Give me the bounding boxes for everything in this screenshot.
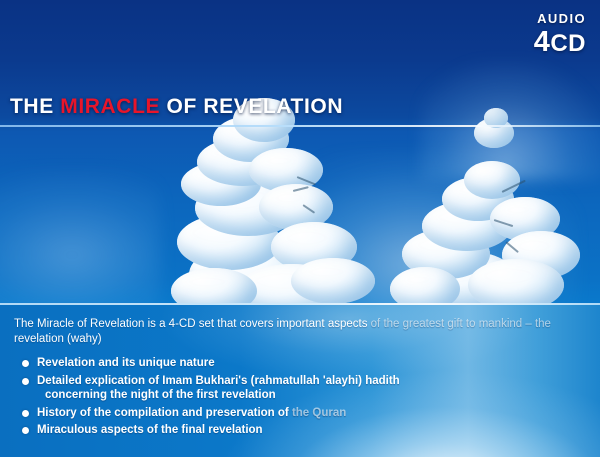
- title-highlight: MIRACLE: [60, 95, 160, 118]
- snow-lobe: [291, 258, 375, 304]
- bullet-icon: [22, 410, 29, 417]
- snow-tree-right: [398, 175, 588, 315]
- bullet-icon: [22, 360, 29, 367]
- title-area: THE MIRACLE OF REVELATION: [0, 95, 600, 127]
- title-divider: [0, 125, 600, 127]
- list-item: Revelation and its unique nature: [14, 356, 586, 371]
- description-line2: revelation (wahy): [14, 333, 102, 345]
- audio-format-badge: AUDIO 4CD: [534, 12, 586, 57]
- description-panel: The Miracle of Revelation is a 4-CD set …: [0, 303, 600, 457]
- list-item-text-faded: the Quran: [292, 407, 346, 419]
- list-item-text: History of the compilation and preservat…: [37, 407, 292, 419]
- page-title: THE MIRACLE OF REVELATION: [10, 95, 343, 119]
- description-line1-faded: of the greatest gift to mankind – the: [371, 318, 551, 330]
- list-item-text: Miraculous aspects of the final revelati…: [37, 424, 263, 436]
- list-item: Detailed explication of Imam Bukhari's (…: [14, 374, 586, 403]
- feature-list: Revelation and its unique nature Detaile…: [14, 356, 586, 438]
- badge-disc-number: 4: [534, 26, 551, 58]
- title-prefix: THE: [10, 95, 60, 118]
- list-item-text: Detailed explication of Imam Bukhari's (…: [37, 375, 400, 387]
- list-item-text: Revelation and its unique nature: [37, 357, 215, 369]
- list-item: Miraculous aspects of the final revelati…: [14, 423, 586, 438]
- description-line1: The Miracle of Revelation is a 4-CD set …: [14, 318, 371, 330]
- bullet-icon: [22, 427, 29, 434]
- badge-disc-count: 4CD: [534, 28, 586, 57]
- badge-disc-unit: CD: [550, 30, 586, 57]
- bullet-icon: [22, 378, 29, 385]
- snow-tree-left: [175, 118, 375, 313]
- panel-content: The Miracle of Revelation is a 4-CD set …: [0, 303, 600, 438]
- badge-format-label: AUDIO: [534, 12, 586, 25]
- list-item-continuation: concerning the night of the first revela…: [37, 388, 586, 403]
- snow-lobe: [464, 161, 520, 199]
- description-text: The Miracle of Revelation is a 4-CD set …: [14, 317, 586, 347]
- title-suffix: OF REVELATION: [160, 95, 343, 118]
- cd-cover: THE MIRACLE OF REVELATION AUDIO 4CD The …: [0, 0, 600, 457]
- list-item: History of the compilation and preservat…: [14, 406, 586, 421]
